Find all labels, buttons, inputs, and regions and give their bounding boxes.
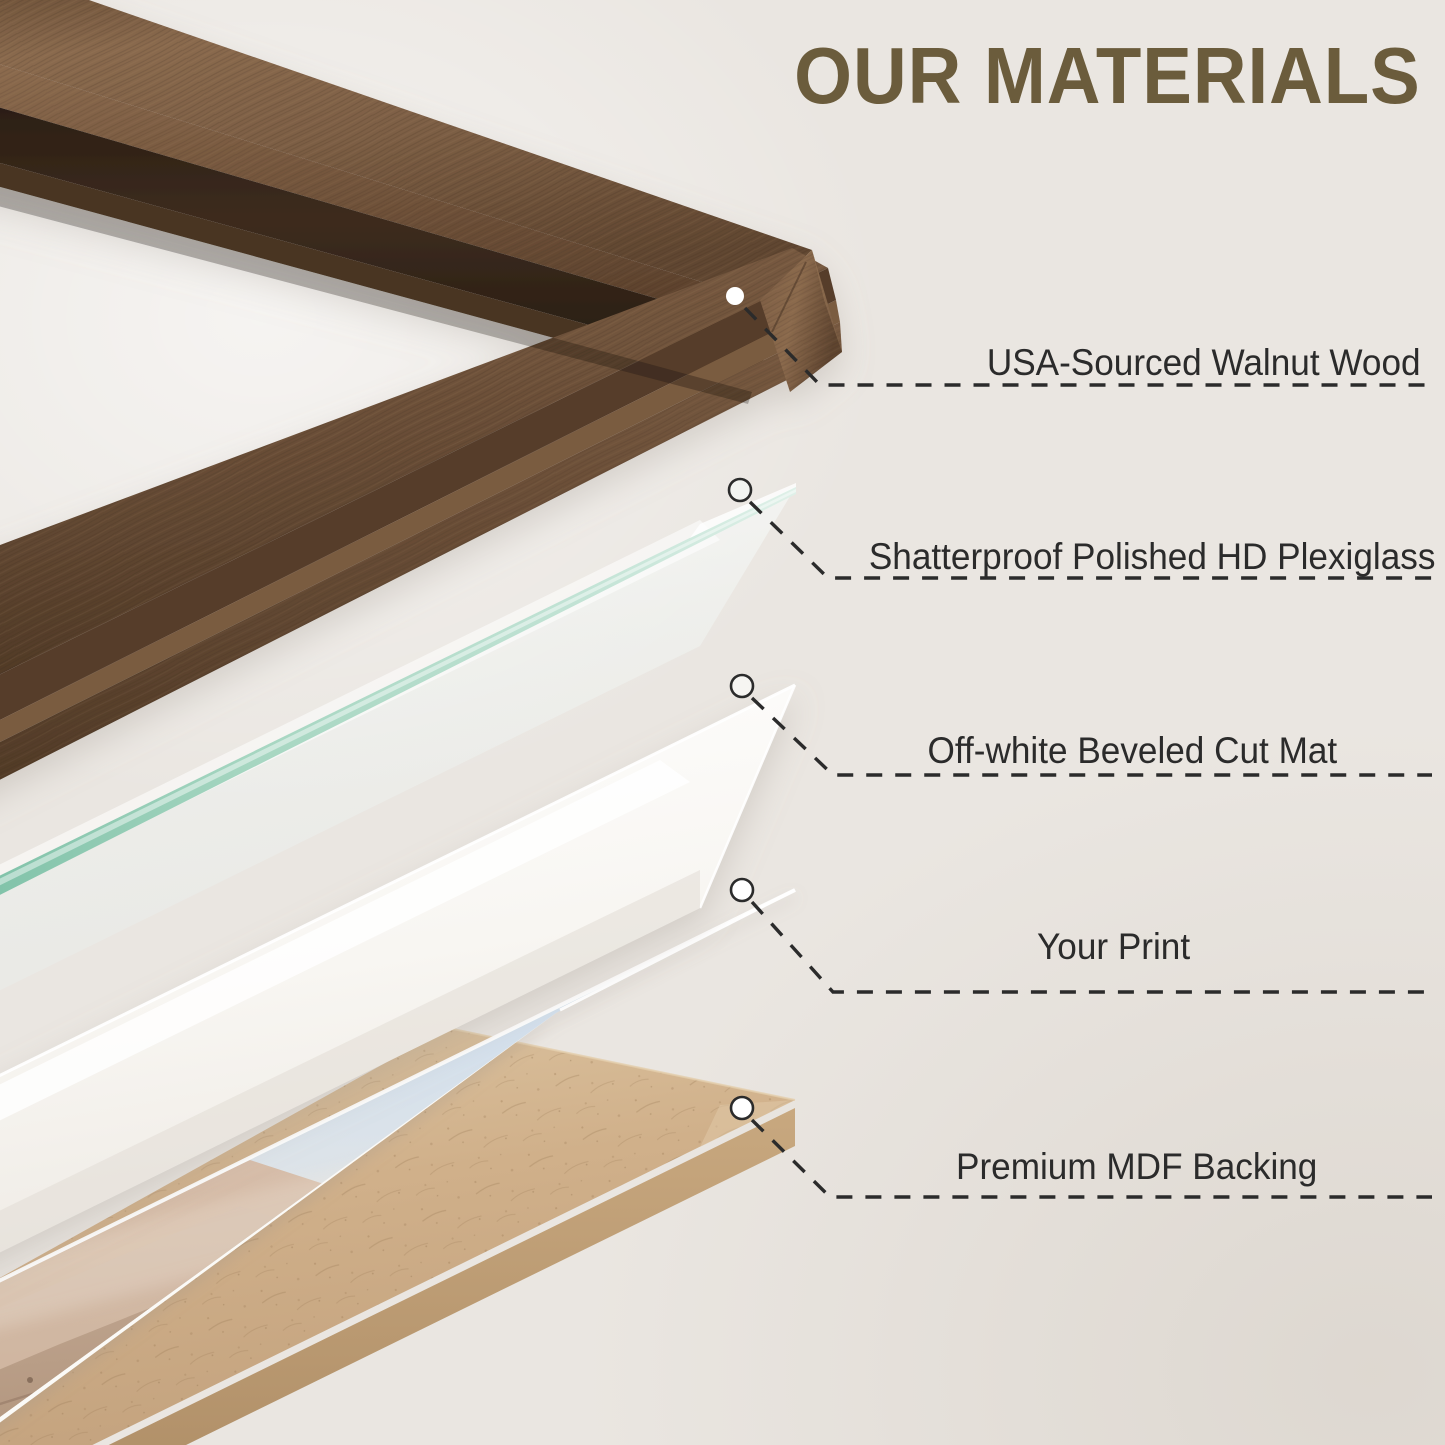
page-title: OUR MATERIALS xyxy=(794,34,1421,118)
marker-mat[interactable] xyxy=(731,675,753,697)
infographic-canvas: OUR MATERIALS USA-Sourced Walnut Wood Sh… xyxy=(0,0,1445,1445)
callout-markers xyxy=(726,287,753,1119)
callout-label-mat: Off-white Beveled Cut Mat xyxy=(927,732,1337,769)
marker-plexiglass[interactable] xyxy=(729,479,751,501)
callout-label-plexiglass: Shatterproof Polished HD Plexiglass xyxy=(868,538,1435,575)
marker-walnut-wood[interactable] xyxy=(726,287,744,305)
callout-label-mdf-backing: Premium MDF Backing xyxy=(956,1148,1317,1185)
callout-label-walnut-wood: USA-Sourced Walnut Wood xyxy=(987,344,1421,381)
marker-print[interactable] xyxy=(731,879,753,901)
marker-mdf-backing[interactable] xyxy=(731,1097,753,1119)
callout-label-print: Your Print xyxy=(1037,928,1190,965)
exploded-frame-illustration xyxy=(0,0,1445,1445)
